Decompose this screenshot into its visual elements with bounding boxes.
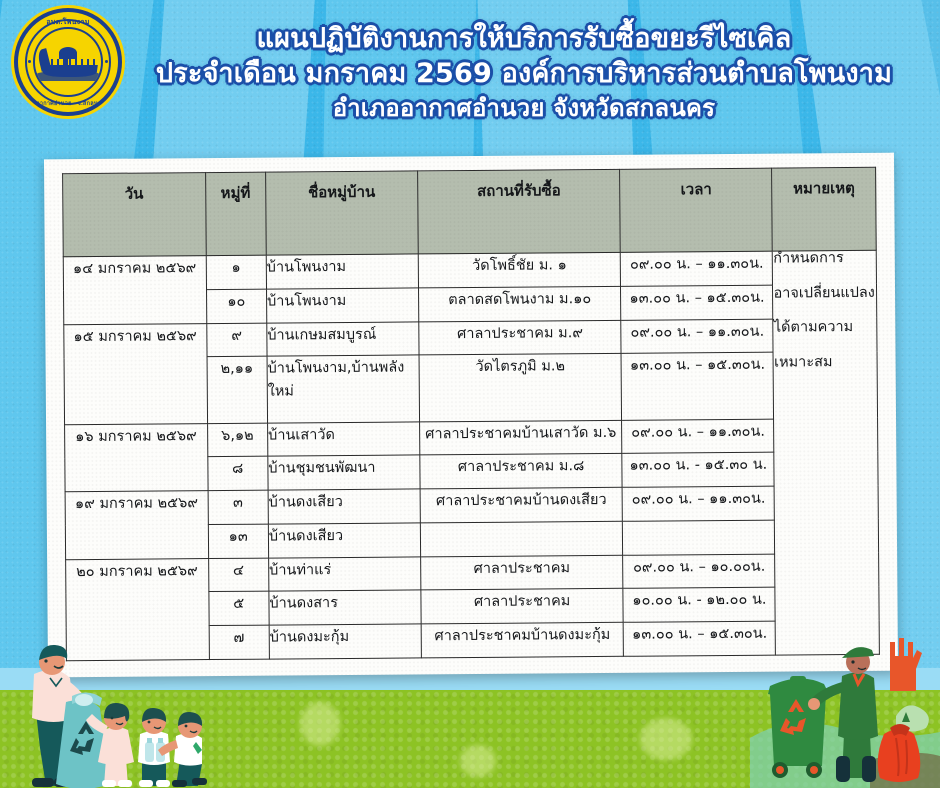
adult-shoe — [32, 778, 54, 787]
worker-boot — [836, 756, 850, 782]
table-body: ๑๔ มกราคม ๒๕๖๙๑บ้านโพนงามวัดโพธิ์ชัย ม. … — [63, 250, 879, 660]
grass-blob — [300, 702, 340, 746]
cell-village: บ้านท่าแร่ — [269, 557, 421, 592]
bin-wheel-hub — [810, 766, 818, 774]
cell-place: ศาลาประชาคมบ้านดงเสียว — [420, 487, 623, 522]
column-header-time-label: เวลา — [621, 177, 772, 202]
worker-hand — [808, 698, 820, 710]
cell-time: ๐๙.๐๐ น. – ๑๐.๐๐น. — [623, 554, 775, 589]
table-header: วัน หมู่ที่ ชื่อหมู่บ้าน สถานที่รับซื้อ — [63, 167, 877, 256]
bin-wheel-hub — [776, 766, 784, 774]
bin-handle — [790, 676, 806, 682]
seal-dot — [28, 60, 31, 63]
cell-village: บ้านชุมชนพัฒนา — [268, 455, 420, 490]
note-line: อาจเปลี่ยนแปลง — [773, 285, 876, 300]
note-line: กำหนดการ — [773, 251, 876, 266]
boy2-shoe — [172, 780, 187, 787]
cell-moo: ๕ — [208, 591, 269, 625]
cell-moo: ๒,๑๑ — [207, 356, 268, 423]
cell-village: บ้านเสาวัด — [267, 421, 419, 456]
column-header-moo: หมู่ที่ — [205, 172, 266, 255]
cell-village: บ้านดงเสียว — [268, 489, 420, 524]
cell-village: บ้านดงสาร — [269, 590, 421, 625]
schedule-table-wrap: วัน หมู่ที่ ชื่อหมู่บ้าน สถานที่รับซื้อ — [62, 167, 880, 661]
illustration-teacher-and-children — [6, 638, 306, 788]
cell-moo: ๙ — [206, 323, 267, 357]
seal-boat-sail — [59, 47, 77, 59]
cell-time: ๑๓.๐๐ น. - ๑๕.๓๐ น. — [622, 452, 774, 487]
grass-blob — [460, 745, 496, 777]
cell-day: ๑๙ มกราคม ๒๕๖๙ — [65, 491, 208, 560]
cell-village: บ้านดงเสียว — [268, 523, 420, 558]
cell-place: วัดโพธิ์ชัย ม. ๑ — [418, 252, 621, 287]
grass-blob — [640, 718, 692, 760]
cell-time: ๑๓.๐๐ น. – ๑๕.๓๐น. — [621, 352, 774, 419]
boy1-eye — [148, 721, 151, 724]
boy2-eye — [185, 725, 188, 728]
cell-moo: ๑ — [206, 255, 267, 289]
column-header-day: วัน — [63, 173, 206, 257]
rubber-glove-icon — [890, 638, 922, 691]
bottle-in-bag — [75, 694, 93, 706]
cell-moo: ๔ — [208, 558, 269, 592]
seal-boat-rowers — [45, 59, 95, 67]
poster-title-line-2: ประจำเดือน มกราคม 2569 องค์การบริหารส่วน… — [118, 57, 930, 90]
poster-title-block: แผนปฏิบัติงานการให้บริการรับซื้อขยะรีไซเ… — [118, 22, 930, 124]
cell-village: บ้านโพนงาม — [266, 288, 418, 323]
girl-shoe — [102, 780, 116, 787]
cell-village: บ้านโพนงาม — [266, 254, 418, 289]
cell-time — [623, 520, 775, 555]
cell-moo: ๖,๑๒ — [207, 423, 268, 457]
seal-dot — [105, 60, 108, 63]
cell-moo: ๑๓ — [208, 524, 269, 558]
cell-place: ตลาดสดโพนงาม ม.๑๐ — [418, 286, 621, 321]
cell-place: ศาลาประชาคมบ้านดงมะกุ้ม — [421, 622, 624, 657]
cell-time: ๑๐.๐๐ น. - ๑๒.๐๐ น. — [623, 588, 775, 623]
poster-title-line-3: อำเภออากาศอำนวย จังหวัดสกลนคร — [118, 94, 930, 124]
cell-day: ๑๕ มกราคม ๒๕๖๙ — [64, 323, 207, 424]
cell-time: ๐๙.๐๐ น. – ๑๑.๓๐น. — [622, 419, 774, 454]
column-header-note: หมายเหตุ — [772, 167, 876, 251]
poster-canvas: อบต.โพนงาม อ.อากาศอำนวย • จ.สกลนคร แผนปฏ… — [0, 0, 940, 788]
note-line: ได้ตามความ — [774, 320, 877, 335]
cell-place: ศาลาประชาคม — [421, 589, 624, 624]
note-line: เหมาะสม — [774, 354, 877, 369]
column-header-moo-label: หมู่ที่ — [206, 181, 266, 205]
column-header-day-label: วัน — [63, 181, 205, 206]
boy1-shoe — [139, 780, 153, 787]
adult-eye — [44, 659, 47, 662]
worker-eye — [851, 660, 854, 663]
poster-title-line-1: แผนปฏิบัติงานการให้บริการรับซื้อขยะรีไซเ… — [118, 22, 930, 55]
boy2-shoe — [192, 778, 207, 785]
cell-moo: ๓ — [208, 490, 269, 524]
red-garbage-bag — [878, 724, 921, 782]
schedule-paper-photo: วัน หมู่ที่ ชื่อหมู่บ้าน สถานที่รับซื้อ — [44, 153, 898, 678]
cell-time: ๐๙.๐๐ น. – ๑๑.๓๐น. — [621, 319, 773, 354]
cell-time: ๐๙.๐๐ น. – ๑๑.๓๐น. — [621, 251, 773, 286]
boy1-shoe — [156, 780, 170, 787]
column-header-place-label: สถานที่รับซื้อ — [418, 178, 620, 204]
cell-place: วัดไตรภูมิ ม.๒ — [419, 354, 622, 422]
cell-place: ศาลาประชาคม ม.๙ — [419, 320, 622, 355]
municipality-seal-logo: อบต.โพนงาม อ.อากาศอำนวย • จ.สกลนคร — [14, 8, 122, 116]
cell-note: กำหนดการอาจเปลี่ยนแปลงได้ตามความเหมาะสม — [773, 250, 880, 655]
illustration-worker-and-bin — [750, 628, 940, 788]
cell-day: ๑๔ มกราคม ๒๕๖๙ — [63, 256, 206, 325]
cell-village: บ้านเกษมสมบูรณ์ — [267, 321, 419, 356]
schedule-table: วัน หมู่ที่ ชื่อหมู่บ้าน สถานที่รับซื้อ — [62, 167, 880, 661]
cell-moo: ๘ — [207, 456, 268, 490]
seal-bottom-text: อ.อากาศอำนวย • จ.สกลนคร — [18, 100, 118, 108]
column-header-note-label: หมายเหตุ — [773, 176, 876, 201]
cell-moo: ๑๐ — [206, 289, 267, 323]
worker-cap — [842, 647, 874, 658]
cell-time: ๐๙.๐๐ น. – ๑๑.๓๐น. — [623, 486, 775, 521]
cell-village: บ้านโพนงาม,บ้านพลังใหม่ — [267, 355, 419, 422]
column-header-place: สถานที่รับซื้อ — [417, 169, 620, 254]
table-header-row: วัน หมู่ที่ ชื่อหมู่บ้าน สถานที่รับซื้อ — [63, 167, 877, 256]
column-header-village: ชื่อหมู่บ้าน — [266, 171, 419, 255]
recycle-bin — [768, 676, 828, 778]
girl-shoe — [118, 780, 132, 787]
cell-place: ศาลาประชาคม — [420, 555, 623, 590]
cell-place — [420, 521, 623, 556]
cell-place: ศาลาประชาคม ม.๘ — [420, 454, 623, 489]
column-header-village-label: ชื่อหมู่บ้าน — [266, 179, 417, 204]
cell-time: ๑๓.๐๐ น. – ๑๕.๓๐น. — [621, 285, 773, 320]
cell-day: ๑๖ มกราคม ๒๕๖๙ — [65, 423, 208, 492]
girl-eye — [111, 717, 114, 720]
cell-place: ศาลาประชาคมบ้านเสาวัด ม.๖ — [419, 420, 622, 455]
column-header-time: เวลา — [620, 168, 773, 252]
worker-boot — [862, 756, 876, 782]
seal-inner-disc — [33, 27, 103, 97]
